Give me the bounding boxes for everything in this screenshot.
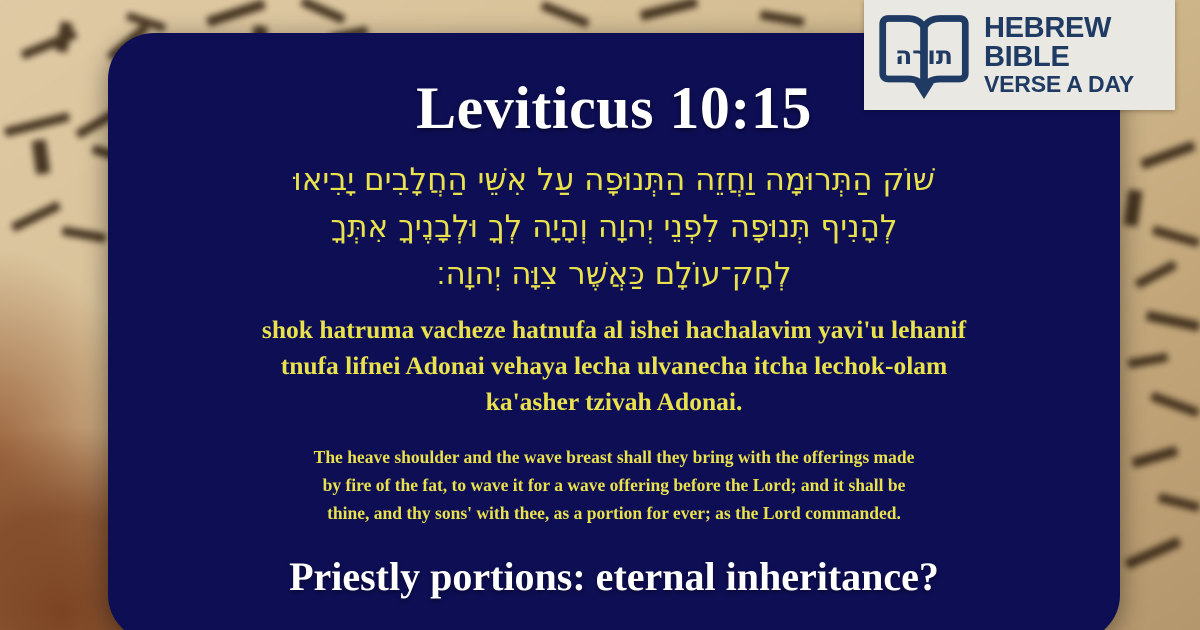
open-book-icon: תורה (876, 7, 972, 103)
hebrew-line: לְהָנִיף תְּנוּפָה לִפְנֵי יְהוָה וְהָיָ… (150, 204, 1078, 251)
verse-card: Leviticus 10:15 שׁוֹק הַתְּרוּמָה וַחֲזֵ… (108, 33, 1120, 630)
translation-line: thine, and thy sons' with thee, as a por… (212, 499, 1016, 527)
english-translation-text: The heave shoulder and the wave breast s… (134, 443, 1094, 528)
verse-image-canvas: Leviticus 10:15 שׁוֹק הַתְּרוּמָה וַחֲזֵ… (0, 0, 1200, 630)
brand-wordmark: HEBREW BIBLE VERSE A DAY (984, 14, 1134, 97)
transliteration-text: shok hatruma vacheze hatnufa al ishei ha… (134, 312, 1094, 421)
hebrew-line: שׁוֹק הַתְּרוּמָה וַחֲזֵה הַתְּנוּפָה עַ… (150, 157, 1078, 204)
transliteration-line: ka'asher tzivah Adonai. (174, 384, 1054, 420)
transliteration-line: tnufa lifnei Adonai vehaya lecha ulvanec… (174, 348, 1054, 384)
translation-line: The heave shoulder and the wave breast s… (212, 443, 1016, 471)
brand-line-1: HEBREW (984, 14, 1134, 44)
hebrew-line: לְחָק־עוֹלָם כַּאֲשֶׁר צִוָּה יְהוָה׃ (150, 251, 1078, 298)
headline-question: Priestly portions: eternal inheritance? (134, 555, 1094, 599)
book-hebrew-word: תורה (895, 41, 953, 70)
brand-line-2: BIBLE (984, 43, 1134, 73)
brand-logo: תורה HEBREW BIBLE VERSE A DAY (864, 0, 1175, 110)
brand-line-3: VERSE A DAY (984, 73, 1134, 96)
translation-line: by fire of the fat, to wave it for a wav… (212, 471, 1016, 499)
hebrew-verse-text: שׁוֹק הַתְּרוּמָה וַחֲזֵה הַתְּנוּפָה עַ… (134, 157, 1094, 298)
transliteration-line: shok hatruma vacheze hatnufa al ishei ha… (174, 312, 1054, 348)
